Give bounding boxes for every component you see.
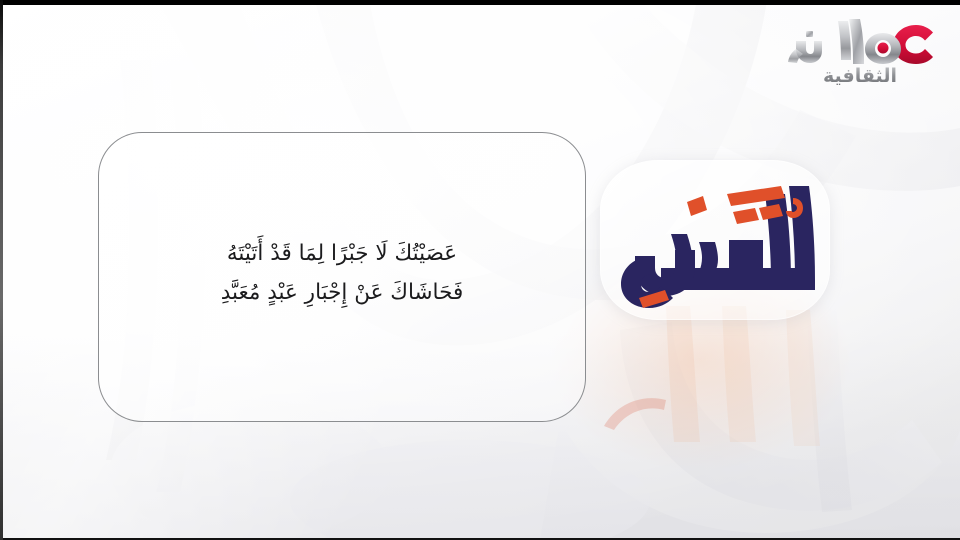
programme-title-badge xyxy=(600,160,830,320)
channel-subtitle: الثقافية xyxy=(782,67,938,86)
verse-line-1: عَصَيْتُكَ لَا جَبْرًا لِمَا قَدْ أَتَيْ… xyxy=(125,234,559,273)
letterbox-top-bar xyxy=(0,0,960,5)
channel-logo: الثقافية xyxy=(782,18,938,96)
oman-tv-logo-icon xyxy=(785,18,935,66)
verse-line-2: فَحَاشَاكَ عَنْ إِجْبَارِ عَبْدٍ مُعَبَّ… xyxy=(125,273,559,312)
verse-text-block: عَصَيْتُكَ لَا جَبْرًا لِمَا قَدْ أَتَيْ… xyxy=(99,234,585,320)
broadcast-screen: الثقافية عَصَيْتُكَ لَا جَبْرًا لِمَا قَ… xyxy=(0,0,960,540)
mutarannim-wordmark-icon xyxy=(603,164,827,316)
verse-card: عَصَيْتُكَ لَا جَبْرًا لِمَا قَدْ أَتَيْ… xyxy=(98,132,586,422)
letterbox-left-edge xyxy=(0,0,3,540)
